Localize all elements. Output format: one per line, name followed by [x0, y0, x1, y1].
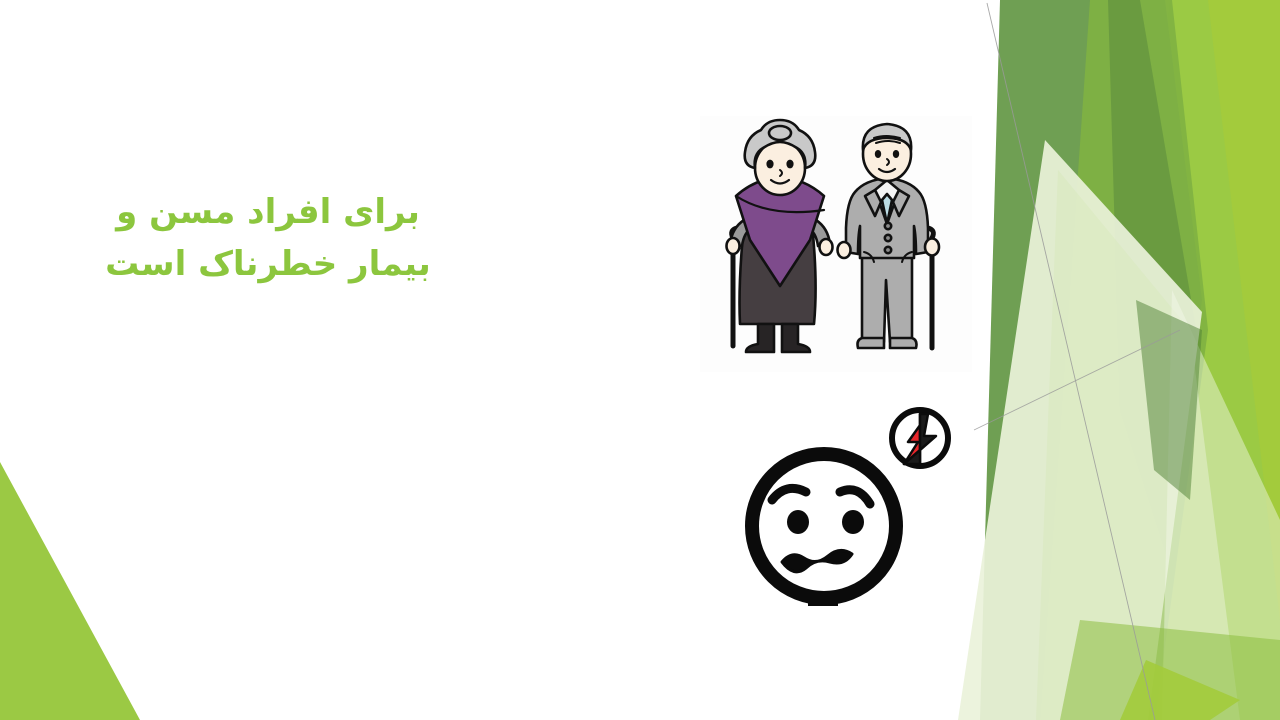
man-right-hand [925, 239, 939, 256]
decor-shape-b [1090, 0, 1280, 720]
man-left-eye [875, 150, 881, 158]
man-button-2 [885, 235, 891, 241]
man-right-eye [893, 150, 899, 158]
title-line-1: برای افراد مسن و [72, 186, 464, 238]
decor-shape-d [1040, 0, 1208, 720]
woman-left-hand [727, 238, 740, 254]
decor-shape-f [958, 140, 1202, 720]
woman-hair-bun [769, 126, 791, 140]
title-line-2: بیمار خطرناک است [72, 238, 464, 290]
decor-shape-c [980, 0, 1202, 720]
man-left-shoe [858, 338, 885, 348]
woman-right-hand [820, 239, 833, 255]
decor-shape-h [1162, 290, 1280, 720]
man-left-hand [838, 242, 851, 258]
elderly-couple-image[interactable] [700, 116, 972, 372]
decor-hairline-2 [974, 330, 1180, 430]
slide-title: برای افراد مسن و بیمار خطرناک است [72, 186, 464, 290]
sick-face-outline [752, 454, 896, 598]
decor-shape-j [1060, 620, 1280, 720]
decor-shape-i [1136, 300, 1202, 500]
woman-left-eye [766, 160, 773, 169]
facet-polygons-right [940, 0, 1280, 720]
man-right-shoe [890, 338, 917, 348]
presentation-slide: برای افراد مسن و بیمار خطرناک است [0, 0, 1280, 720]
woman-right-eye [786, 160, 793, 169]
man-button-3 [885, 247, 891, 253]
facet-wedge-bottom-left [0, 0, 160, 720]
lightning-bolt-badge [892, 410, 948, 466]
decor-shape-e [1108, 0, 1198, 560]
decor-shape-k [1120, 660, 1240, 720]
decor-shape-g [1036, 170, 1240, 720]
man-button-1 [885, 223, 891, 229]
decor-hairline-1 [987, 3, 1155, 720]
sick-face-image[interactable] [738, 402, 968, 618]
sick-face-left-eye [787, 510, 809, 534]
sick-face-right-eye [842, 510, 864, 534]
decor-shape-left-wedge [0, 462, 140, 720]
decor-shape-a [1090, 0, 1280, 720]
